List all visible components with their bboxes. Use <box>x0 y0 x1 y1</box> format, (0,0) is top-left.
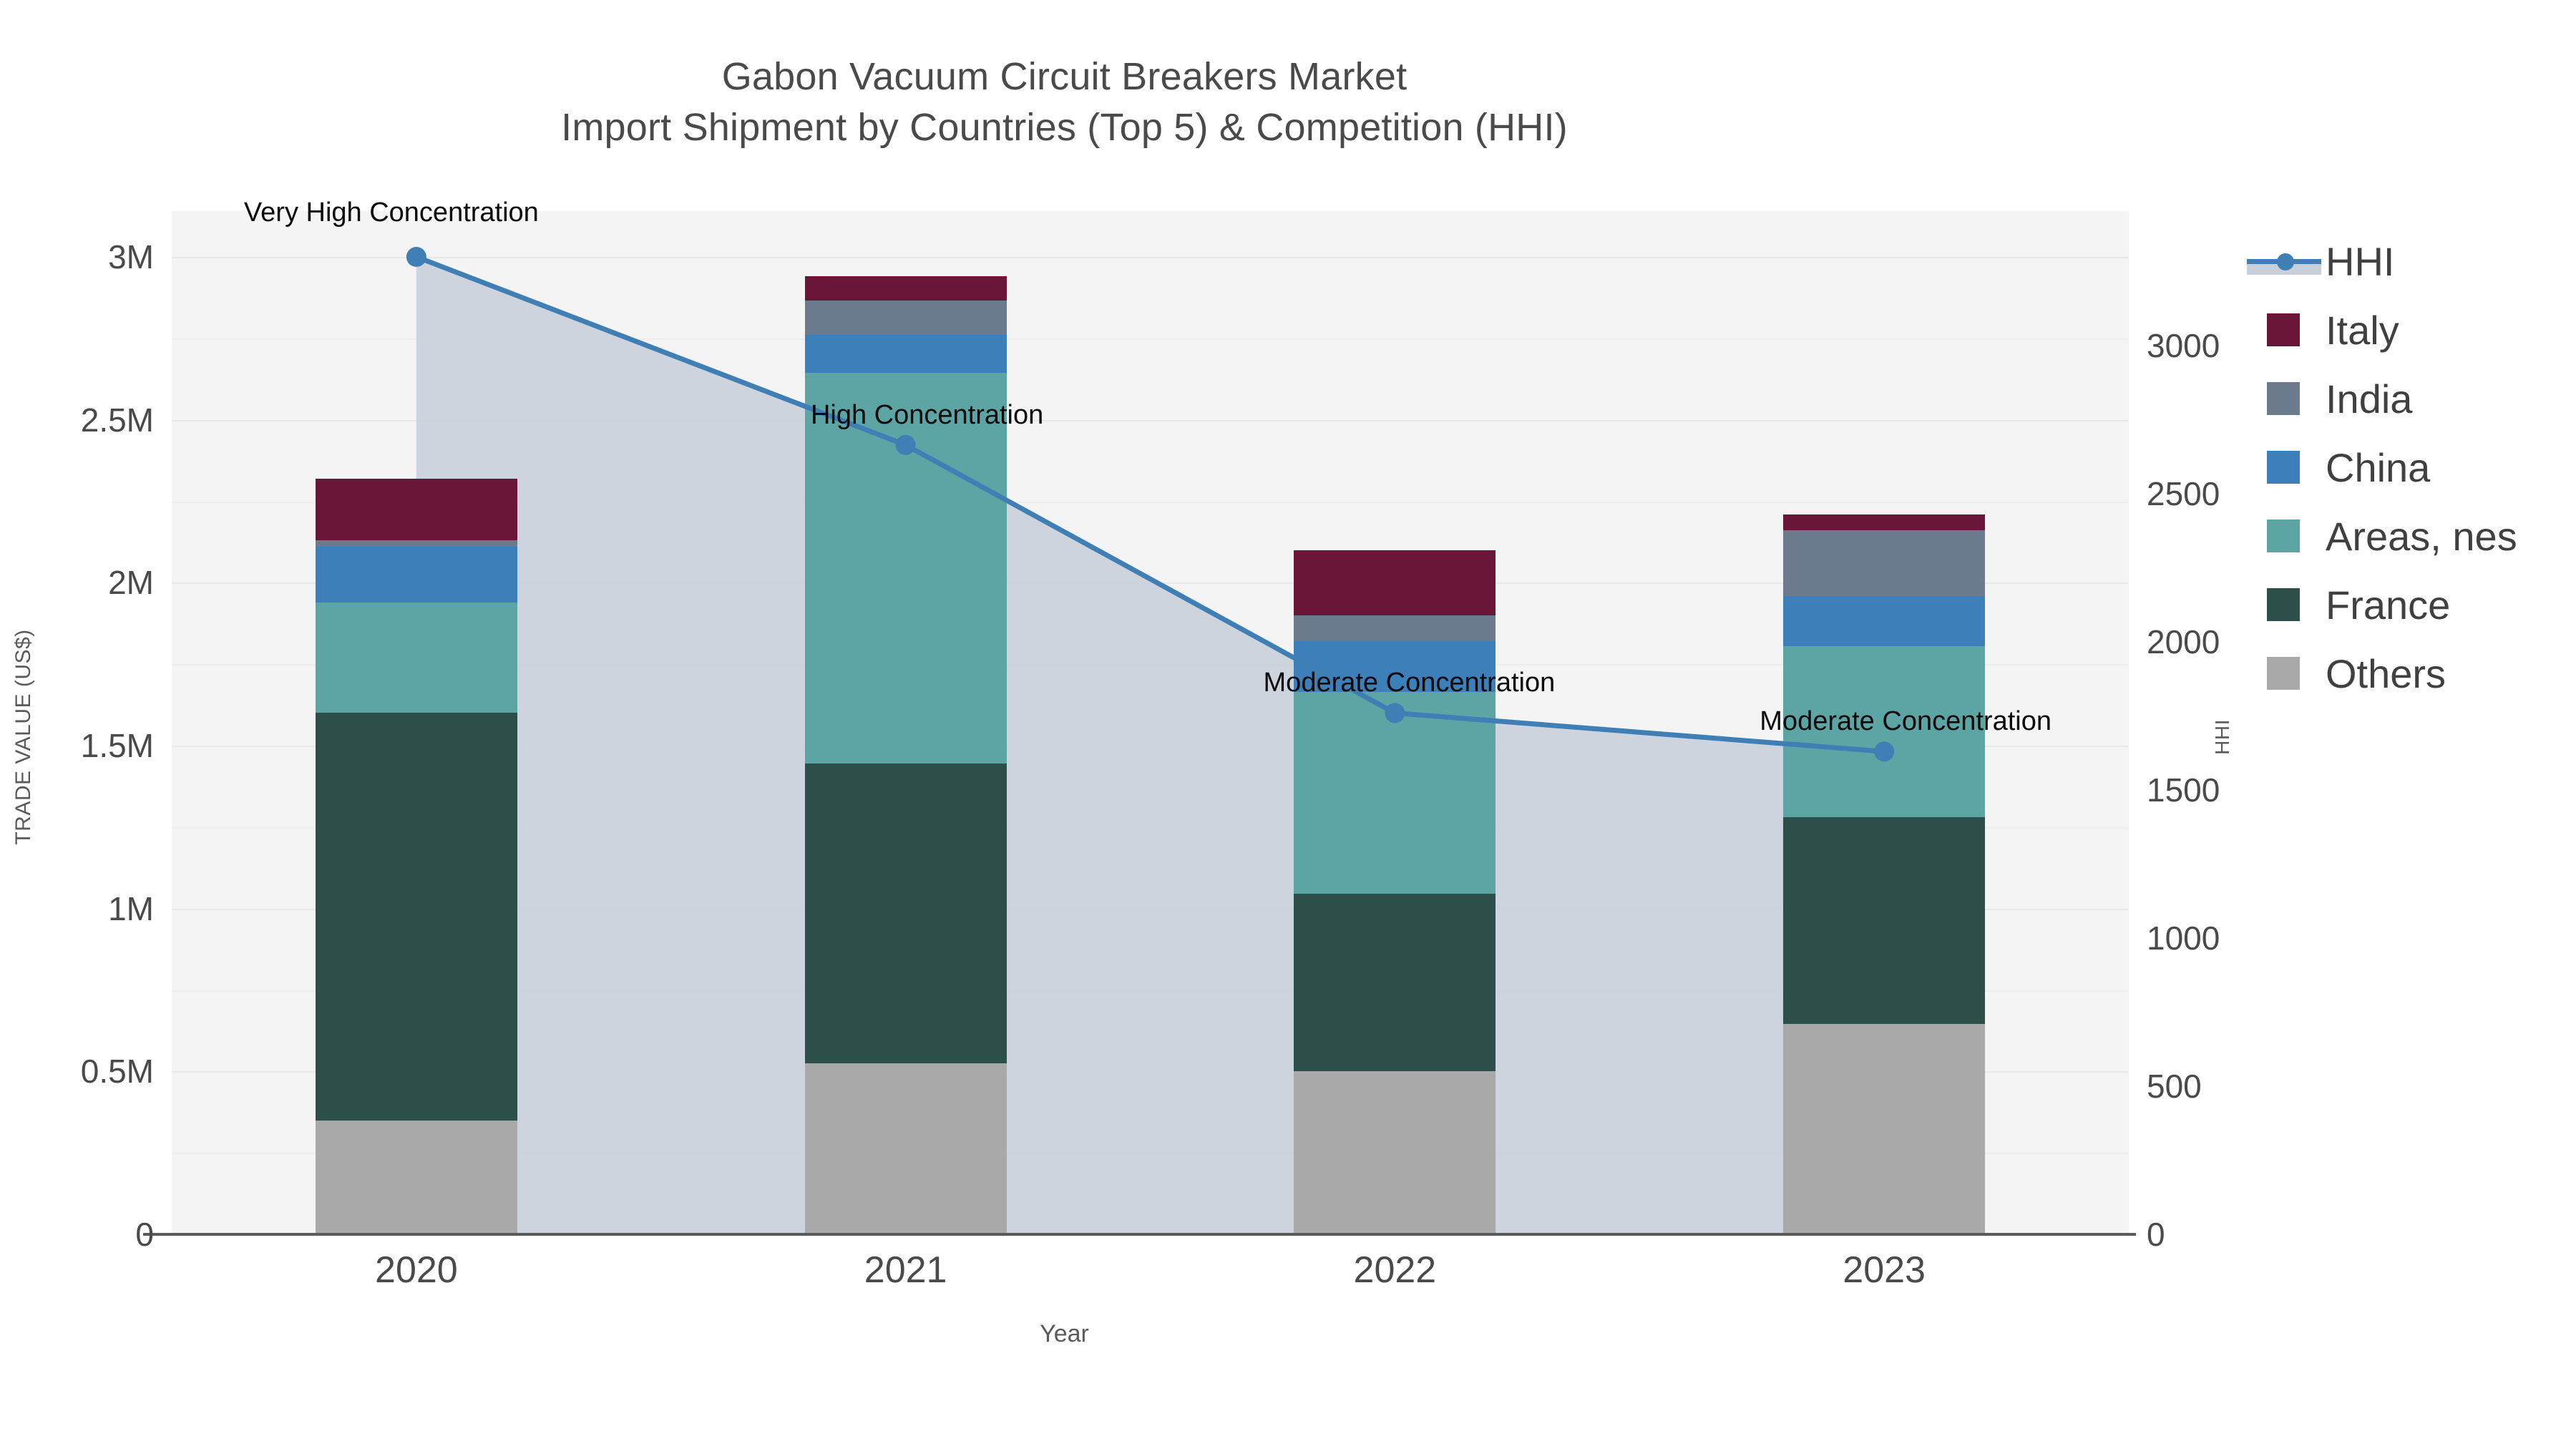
legend-item-areas-nes[interactable]: Areas, nes <box>2267 511 2517 561</box>
chart-title-line-2: Import Shipment by Countries (Top 5) & C… <box>0 102 2129 153</box>
y-axis-right-tick-label: 3000 <box>2147 326 2220 365</box>
y-axis-right-tick-label: 1500 <box>2147 771 2220 809</box>
bar-segment[interactable] <box>1294 1071 1496 1234</box>
y-axis-left-tick-label: 3M <box>0 238 154 276</box>
bar-segment[interactable] <box>1294 894 1496 1071</box>
bar-segment[interactable] <box>1294 615 1496 641</box>
legend-item-others[interactable]: Others <box>2267 648 2517 698</box>
bar-segment[interactable] <box>1783 514 1985 531</box>
bar-segment[interactable] <box>1783 817 1985 1024</box>
legend-item-label: India <box>2326 376 2412 422</box>
y-axis-left-tick-label: 2.5M <box>0 401 154 439</box>
legend-item-france[interactable]: France <box>2267 580 2517 630</box>
y-axis-right-tick-label: 2500 <box>2147 474 2220 513</box>
chart-title-line-1: Gabon Vacuum Circuit Breakers Market <box>0 52 2129 102</box>
chart-legend: HHIItalyIndiaChinaAreas, nesFranceOthers <box>2267 236 2517 717</box>
bar-segment[interactable] <box>316 540 517 547</box>
y-axis-left-tick-label: 2M <box>0 563 154 602</box>
legend-item-india[interactable]: India <box>2267 374 2517 424</box>
legend-item-label: France <box>2326 582 2450 628</box>
hhi-annotation: Very High Concentration <box>244 197 539 228</box>
legend-item-china[interactable]: China <box>2267 442 2517 492</box>
legend-swatch-icon <box>2267 382 2300 415</box>
chart-title: Gabon Vacuum Circuit Breakers Market Imp… <box>0 52 2129 154</box>
y-axis-right-title: HHI <box>2211 719 2234 755</box>
x-axis-tick-label[interactable]: 2022 <box>1354 1249 1437 1292</box>
y-axis-left-tick-label: 0 <box>0 1215 154 1254</box>
bar-segment[interactable] <box>805 1063 1007 1234</box>
bar-segment[interactable] <box>805 276 1007 301</box>
x-axis-tick-label[interactable]: 2023 <box>1843 1249 1926 1292</box>
x-axis-tick-label[interactable]: 2020 <box>375 1249 458 1292</box>
legend-swatch-icon <box>2267 657 2300 690</box>
y-axis-right-tick-label: 0 <box>2147 1215 2165 1254</box>
bar-segment[interactable] <box>1783 1024 1985 1234</box>
hhi-annotation: Moderate Concentration <box>1760 706 2051 737</box>
legend-swatch-icon <box>2267 588 2300 621</box>
legend-swatch-icon <box>2267 519 2300 552</box>
bar-segment[interactable] <box>1783 530 1985 595</box>
y-axis-left-tick-label: 0.5M <box>0 1052 154 1091</box>
legend-item-label: Areas, nes <box>2326 513 2517 560</box>
bar-segment[interactable] <box>1294 692 1496 894</box>
y-axis-left-tick-label: 1M <box>0 889 154 928</box>
legend-item-label: HHI <box>2326 238 2394 285</box>
bar-segment[interactable] <box>316 713 517 1120</box>
y-axis-right-tick-label: 1000 <box>2147 919 2220 957</box>
hhi-annotation: Moderate Concentration <box>1264 668 1556 698</box>
bar-segment[interactable] <box>1294 550 1496 615</box>
legend-item-label: Italy <box>2326 307 2399 353</box>
bar-segment[interactable] <box>805 301 1007 335</box>
y-axis-right-tick-label: 2000 <box>2147 623 2220 661</box>
bar-segment[interactable] <box>316 547 517 602</box>
x-axis-title: Year <box>0 1320 2129 1348</box>
legend-item-label: Others <box>2326 650 2446 697</box>
bar-segment[interactable] <box>316 1121 517 1234</box>
hhi-annotation: High Concentration <box>811 400 1043 431</box>
bar-segment[interactable] <box>316 479 517 541</box>
x-axis-tick-label[interactable]: 2021 <box>864 1249 947 1292</box>
bar-segment[interactable] <box>805 373 1007 763</box>
legend-swatch-icon <box>2267 451 2300 484</box>
legend-item-hhi[interactable]: HHI <box>2267 236 2517 286</box>
y-axis-right-tick-label: 500 <box>2147 1067 2202 1106</box>
legend-item-label: China <box>2326 444 2430 491</box>
bar-segment[interactable] <box>805 763 1007 1063</box>
bar-segment[interactable] <box>805 335 1007 372</box>
legend-swatch-icon <box>2267 313 2300 346</box>
bar-segment[interactable] <box>1783 596 1985 647</box>
y-axis-left-title: TRADE VALUE (US$) <box>11 629 36 844</box>
legend-item-italy[interactable]: Italy <box>2267 305 2517 355</box>
legend-line-marker-icon <box>2267 245 2300 278</box>
bar-segment[interactable] <box>316 602 517 713</box>
x-axis-line <box>143 1233 2136 1236</box>
